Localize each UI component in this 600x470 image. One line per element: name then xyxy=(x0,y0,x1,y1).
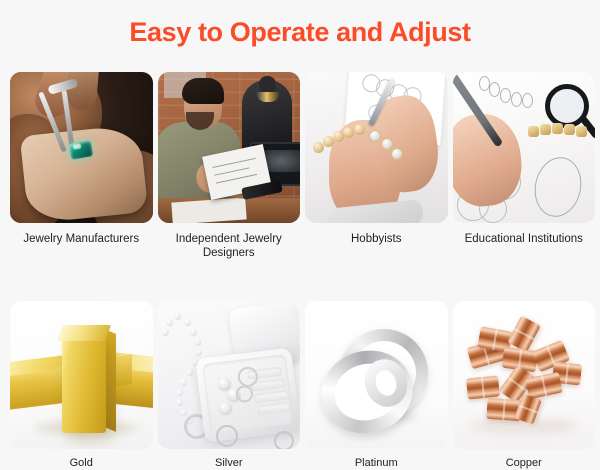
card-caption: Silver xyxy=(156,456,301,470)
audience-row: Jewelry Manufacturers xyxy=(10,72,590,260)
promo-page: Easy to Operate and Adjust xyxy=(0,0,600,450)
image-jeweler-emerald xyxy=(10,72,153,223)
image-copper-cylinders xyxy=(453,301,596,449)
image-platinum-rings xyxy=(305,301,448,449)
card-grid: Jewelry Manufacturers xyxy=(10,72,590,470)
image-designer-desk xyxy=(158,72,301,223)
image-gold-bars xyxy=(10,301,153,449)
image-hands-bracelet xyxy=(305,72,448,223)
card-gold[interactable]: Gold xyxy=(10,301,153,470)
card-jewelry-manufacturers[interactable]: Jewelry Manufacturers xyxy=(10,72,153,260)
card-caption: Copper xyxy=(451,456,596,470)
image-silver-jewelry-box xyxy=(158,301,301,449)
card-caption: Platinum xyxy=(304,456,449,470)
card-caption: Hobbyists xyxy=(304,232,449,246)
card-copper[interactable]: Copper xyxy=(453,301,596,470)
card-hobbyists[interactable]: Hobbyists xyxy=(305,72,448,260)
image-sketching-designs xyxy=(453,72,596,223)
card-educational-institutions[interactable]: Educational Institutions xyxy=(453,72,596,260)
card-caption: Gold xyxy=(9,456,154,470)
card-silver[interactable]: Silver xyxy=(158,301,301,470)
card-caption: Independent Jewelry Designers xyxy=(156,232,301,260)
page-title: Easy to Operate and Adjust xyxy=(0,17,600,48)
card-independent-jewelry-designers[interactable]: Independent Jewelry Designers xyxy=(158,72,301,260)
materials-row: Gold xyxy=(10,301,590,470)
card-caption: Jewelry Manufacturers xyxy=(9,232,154,246)
card-platinum[interactable]: Platinum xyxy=(305,301,448,470)
card-caption: Educational Institutions xyxy=(451,232,596,246)
